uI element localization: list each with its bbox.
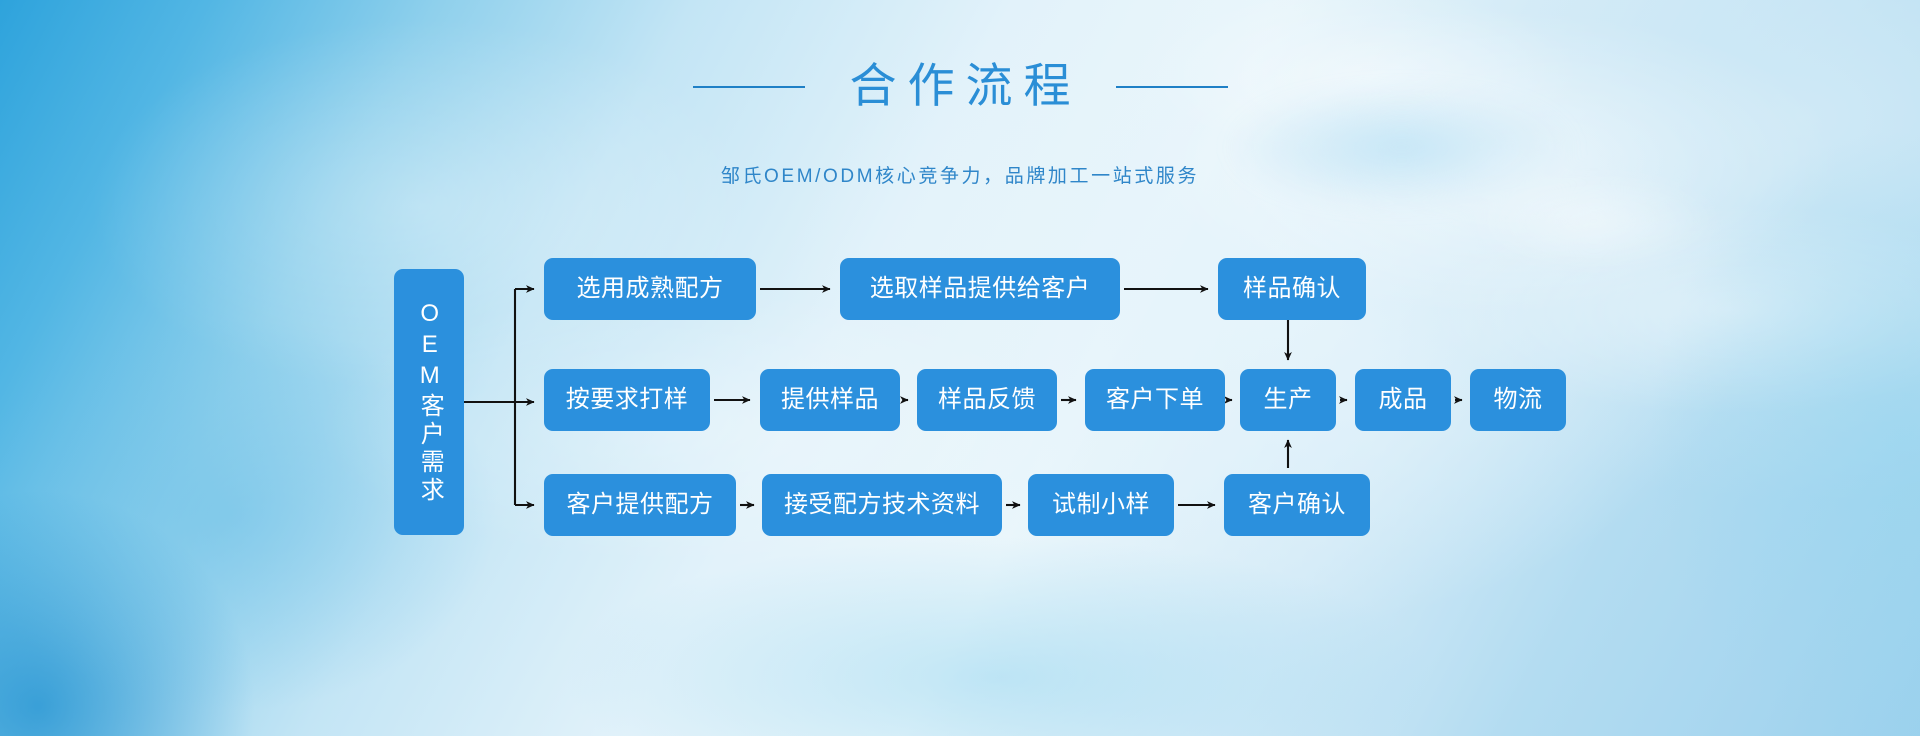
flow-node-select-mature-formula[interactable]: 选用成熟配方 [544,258,756,320]
flowchart-banner: 合作流程 邹氏OEM/ODM核心竞争力，品牌加工一站式服务 [0,0,1920,736]
flow-node-sample-feedback[interactable]: 样品反馈 [917,369,1057,431]
flow-node-trial-small-batch[interactable]: 试制小样 [1028,474,1174,536]
flow-node-customer-confirmation[interactable]: 客户确认 [1224,474,1370,536]
flow-node-production[interactable]: 生产 [1240,369,1336,431]
flow-node-proofing-on-request[interactable]: 按要求打样 [544,369,710,431]
flow-node-customer-order[interactable]: 客户下单 [1085,369,1225,431]
title-decoration-right-icon [1116,86,1228,88]
flow-node-provide-sample[interactable]: 提供样品 [760,369,900,431]
flow-node-receive-formula-docs[interactable]: 接受配方技术资料 [762,474,1002,536]
flow-node-sample-confirmation[interactable]: 样品确认 [1218,258,1366,320]
flow-node-start[interactable]: OEM客户需求 [394,269,464,535]
page-subtitle: 邹氏OEM/ODM核心竞争力，品牌加工一站式服务 [0,161,1920,188]
flow-node-offer-sample-to-customer[interactable]: 选取样品提供给客户 [840,258,1120,320]
title-decoration-left-icon [693,86,805,88]
flow-node-customer-provides-formula[interactable]: 客户提供配方 [544,474,736,536]
section-header: 合作流程 邹氏OEM/ODM核心竞争力，品牌加工一站式服务 [0,28,1920,188]
flow-node-finished-goods[interactable]: 成品 [1355,369,1451,431]
flow-node-logistics[interactable]: 物流 [1470,369,1566,431]
page-title: 合作流程 [839,59,1082,113]
title-row: 合作流程 [0,28,1920,145]
